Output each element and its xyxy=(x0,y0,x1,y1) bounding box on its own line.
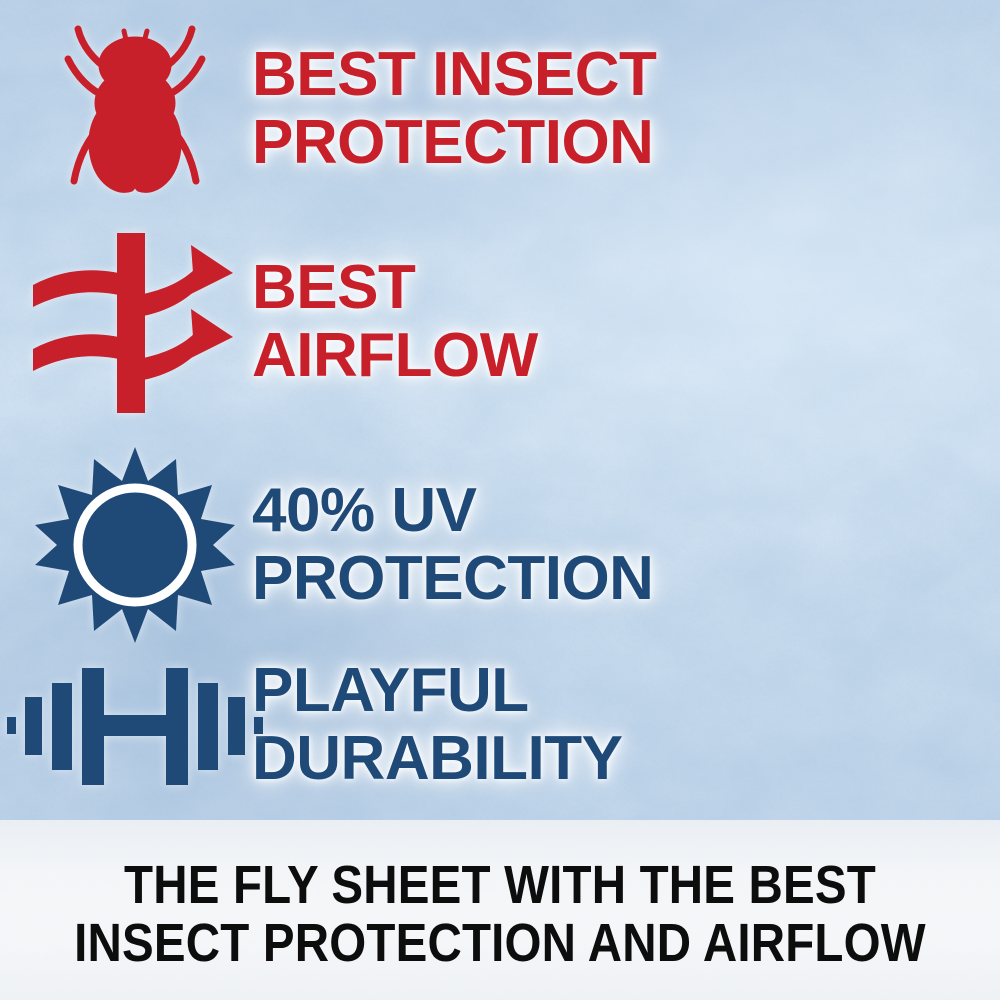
feature-row-durability: PLAYFUL DURABILITY xyxy=(0,650,1000,800)
feature-label-insect-protection: BEST INSECT PROTECTION xyxy=(252,41,656,177)
caption-banner: THE FLY SHEET WITH THE BEST INSECT PROTE… xyxy=(0,820,1000,1000)
feature-row-uv-protection: 40% UV PROTECTION xyxy=(0,438,1000,652)
feature-icon-cell xyxy=(0,19,270,199)
product-feature-poster: BEST INSECT PROTECTION xyxy=(0,0,1000,1000)
feature-label-durability: PLAYFUL DURABILITY xyxy=(252,657,622,793)
feature-label-airflow: BEST AIRFLOW xyxy=(252,254,538,390)
feature-label-uv-protection: 40% UV PROTECTION xyxy=(252,477,653,613)
banner-caption-text: THE FLY SHEET WITH THE BEST INSECT PROTE… xyxy=(60,856,940,972)
sun-icon xyxy=(35,445,235,645)
airflow-arrows-icon xyxy=(27,227,243,417)
feature-icon-cell xyxy=(0,660,270,790)
fly-icon xyxy=(50,19,220,199)
feature-icon-cell xyxy=(0,445,270,645)
feature-icon-cell xyxy=(0,227,270,417)
feature-row-airflow: BEST AIRFLOW xyxy=(0,222,1000,422)
dumbbell-icon xyxy=(7,660,263,790)
feature-row-insect-protection: BEST INSECT PROTECTION xyxy=(0,14,1000,204)
